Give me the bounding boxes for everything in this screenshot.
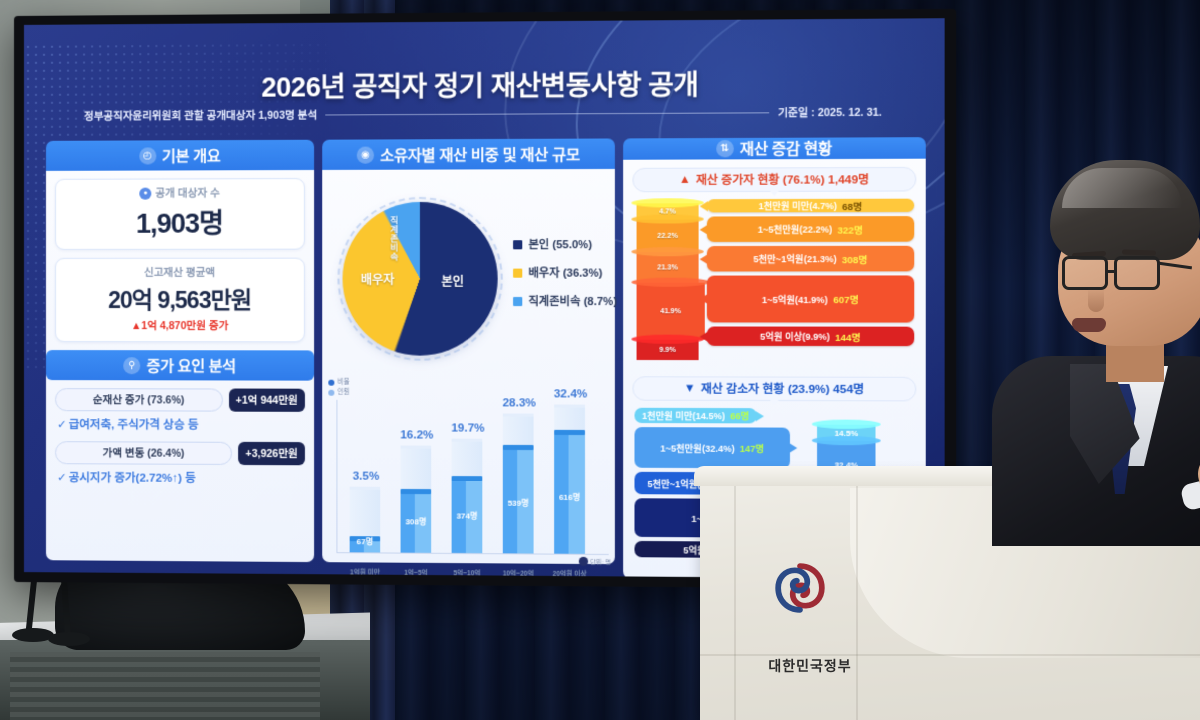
legend-item-self: 본인 (55.0%) [513,236,617,252]
unit-dot-icon [579,557,588,566]
bar-chart-mini-legend: 비율 인원 [328,378,349,398]
podium-seam-2 [856,486,858,720]
speaker-nose [1088,288,1104,312]
legend-swatch-spouse [513,268,522,277]
bar-percent-label: 16.2% [394,429,439,441]
legend-label-self: 본인 (55.0%) [528,236,592,252]
speaker-glasses-right [1114,256,1160,290]
decrease-bar: 1~5천만원(32.4%)147명 [634,427,789,468]
funnel-bar-label: 5천만~1억원(21.3%) [753,252,836,265]
panel-ownership-share: ◉ 소유자별 재산 비중 및 재산 규모 본인 배우자 직계존비속 본인 (55… [322,138,615,564]
speaker-mouth [1072,318,1106,332]
increase-banner-text: 재산 증가자 현황 (76.1%) 1,449명 [696,171,869,188]
decrease-bar-label: 1~5천만원(32.4%) [660,441,734,455]
funnel-bar-label: 5억원 이상(9.9%) [760,330,830,343]
updown-icon: ⇅ [716,140,734,157]
factor-pill-valuation: 가액 변동 (26.4%) [55,441,232,465]
stat-value-average: 20억 9,563만원 [64,281,296,315]
stat-value-subjects: 1,903명 [64,201,296,241]
bar-3d: 3.5%67명 [348,411,383,552]
legend-swatch-lineal [513,296,522,305]
person-icon: ● [139,187,151,199]
bar-percent-label: 19.7% [445,422,490,434]
decrease-banner: ▼ 재산 감소자 현황 (23.9%) 454명 [632,376,916,401]
asset-size-bar-chart: 3.5%67명1억원 미만16.2%308명1억~5억19.7%374명5억~1… [336,400,608,555]
funnel-bar: 1천만원 미만(4.7%)68명 [707,199,914,213]
factor-note-net-asset: ✓급여저축, 주식가격 상승 등 [57,416,305,433]
pie-slice-label-spouse: 배우자 [361,271,395,288]
funnel-bar: 1~5억원(41.9%)607명 [707,275,914,322]
bar-count-label: 308명 [401,516,432,527]
legend-swatch-self [513,240,522,249]
side-table-panel [10,652,320,720]
factor-amount-valuation: +3,926만원 [238,442,305,465]
mini-legend-label-count: 인원 [337,388,349,398]
mini-legend-ratio: 비율 [328,378,349,388]
speaker-glasses-left [1062,256,1108,290]
taegeuk-logo [774,562,826,614]
panel-title-factors: 증가 요인 분석 [146,355,235,376]
decrease-banner-text: 재산 감소자 현황 (23.9%) 454명 [701,380,864,397]
stat-label-text-subjects: 공개 대상자 수 [155,185,219,200]
pie-chart-area: 본인 배우자 직계존비속 본인 (55.0%) 배우자 (36.3%) [334,195,598,368]
podium-seam-1 [734,486,736,720]
bar-group: 32.4%616명20억원 이상 [552,412,587,554]
bar-count-label: 67명 [350,536,381,547]
bar-group: 3.5%67명1억원 미만 [348,411,383,552]
panel-body-ownership: 본인 배우자 직계존비속 본인 (55.0%) 배우자 (36.3%) [322,169,615,564]
speaker-glasses-bridge [1108,270,1116,273]
check-icon-1: ✓ [57,419,67,431]
bar-3d: 16.2%308명 [399,411,434,553]
funnel-bar-count: 607명 [833,292,859,306]
legend-label-spouse: 배우자 (36.3%) [528,264,602,280]
panel-title-basic: 기본 개요 [162,145,220,166]
stat-label-subjects: ● 공개 대상자 수 [64,185,296,201]
slide-title: 2026년 공직자 정기 재산변동사항 공개 [24,61,945,106]
increase-banner: ▲ 재산 증가자 현황 (76.1%) 1,449명 [632,167,916,192]
bar-percent-label: 28.3% [497,397,542,409]
funnel-bar-count: 308명 [842,251,868,265]
speaker-person [1010,160,1200,530]
funnel-bar: 1~5천만원(22.2%)322명 [707,216,914,242]
increase-funnel-stack: 4.7%22.2%21.3%41.9%9.9% [637,203,701,360]
funnel-segment: 41.9% [637,283,705,340]
slide-subtitle-right: 기준일 : 2025. 12. 31. [778,104,882,120]
legend-label-lineal: 직계존비속 (8.7%) [528,293,617,309]
panel-header-ownership: ◉ 소유자별 재산 비중 및 재산 규모 [322,138,615,169]
bar-3d: 32.4%616명 [552,412,587,554]
funnel-segment: 9.9% [637,340,699,360]
factor-note-text-2: 공시지가 증가(2.72%↑) 등 [69,472,196,485]
decrease-bar-count: 66명 [730,409,749,422]
bar-count-label: 374명 [452,511,483,522]
subline-rule [325,112,769,115]
factor-row-valuation: 가액 변동 (26.4%) +3,926만원 [55,441,305,465]
factor-amount-net-asset: +1억 944만원 [229,389,305,412]
bar-3d: 19.7%374명 [450,411,485,553]
funnel-bar-count: 68명 [842,198,862,212]
factor-row-net-asset: 순재산 증가 (73.6%) +1억 944만원 [55,388,305,412]
funnel-bar-count: 144명 [835,329,861,343]
pie-icon: ◉ [357,146,374,163]
bar-group: 16.2%308명1억~5억 [399,411,434,553]
bar-percent-label: 3.5% [344,470,389,482]
stat-label-average: 신고재산 평균액 [64,265,296,280]
bar-top-face [554,430,585,435]
stat-delta-average: ▲1억 4,870만원 증가 [64,318,296,333]
funnel-segment-percent: 9.9% [637,340,699,360]
increase-funnel-chart: 4.7%22.2%21.3%41.9%9.9% 1천만원 미만(4.7%)68명… [632,199,916,375]
factor-note-text-1: 급여저축, 주식가격 상승 등 [69,419,199,431]
speaker-hair [1050,160,1200,260]
mini-legend-count: 인원 [328,387,349,397]
bar-count-label: 616명 [554,492,585,503]
panel-header-change: ⇅ 재산 증감 현황 [623,137,926,160]
microphone-base-2 [48,632,90,646]
bar-top-face [503,445,534,450]
bar-3d: 28.3%539명 [501,411,536,553]
down-arrow-icon: ▼ [684,382,696,394]
mini-legend-label-ratio: 비율 [337,378,349,388]
bar-count-label: 539명 [503,498,534,509]
ratio-dot-icon [328,380,334,386]
panel-title-change: 재산 증감 현황 [740,138,832,160]
funnel-bar: 5억원 이상(9.9%)144명 [707,326,914,346]
panel-header-factors: ⚲ 증가 요인 분석 [46,350,314,381]
stat-card-average: 신고재산 평균액 20억 9,563만원 ▲1억 4,870만원 증가 [55,258,305,343]
funnel-bar-count: 322명 [837,222,863,236]
bar-group: 28.3%539명10억~20억 [501,411,536,553]
bar-x-label: 20억원 이상 [540,568,600,579]
increase-funnel-bars: 1천만원 미만(4.7%)68명1~5천만원(22.2%)322명5천만~1억원… [707,199,914,351]
decrease-bar-count: 147명 [740,441,764,454]
slide-subtitle-left: 정부공직자윤리위원회 관할 공개대상자 1,903명 분석 [84,107,317,123]
check-icon-2: ✓ [57,472,67,484]
count-dot-icon [328,389,334,395]
panel-basic-overview: ◴ 기본 개요 ● 공개 대상자 수 1,903명 신고재산 평균액 [46,140,314,562]
panel-header-basic: ◴ 기본 개요 [46,140,314,171]
decrease-bar-label: 1천만원 미만(14.5%) [642,409,725,422]
factor-pill-net-asset: 순재산 증가 (73.6%) [55,388,223,412]
bar-group: 19.7%374명5억~10억 [450,411,485,553]
axis-unit-label: 단위: 명 [579,557,611,566]
panel-body-basic: ● 공개 대상자 수 1,903명 신고재산 평균액 20억 9,563만원 ▲… [46,170,314,562]
up-arrow-icon: ▲ [679,174,691,186]
bar-percent-label: 32.4% [548,388,593,400]
funnel-bar-label: 1~5억원(41.9%) [762,292,828,305]
funnel-bar-label: 1~5천만원(22.2%) [758,222,833,235]
magnifier-icon: ⚲ [123,357,140,374]
podium-label: 대한민국정부 [750,656,870,676]
pie-slice-label-lineal: 직계존비속 [390,216,404,261]
legend-item-spouse: 배우자 (36.3%) [513,264,617,280]
pie-slice-label-self: 본인 [441,273,464,290]
legend-item-lineal: 직계존비속 (8.7%) [513,293,617,309]
stat-label-text-average: 신고재산 평균액 [144,265,215,280]
chart-icon: ◴ [139,147,156,164]
factor-note-valuation: ✓공시지가 증가(2.72%↑) 등 [57,469,305,486]
panel-title-ownership: 소유자별 재산 비중 및 재산 규모 [380,143,580,165]
decrease-bar: 1천만원 미만(14.5%)66명 [634,408,756,424]
pie-legend: 본인 (55.0%) 배우자 (36.3%) 직계존비속 (8.7%) [513,236,617,321]
funnel-bar: 5천만~1억원(21.3%)308명 [707,246,914,272]
funnel-bar-label: 1천만원 미만(4.7%) [758,199,837,212]
bar-top-face [452,476,483,481]
funnel-segment-percent: 41.9% [637,283,705,340]
stat-card-subjects: ● 공개 대상자 수 1,903명 [55,178,305,250]
bar-top-face [401,489,432,494]
